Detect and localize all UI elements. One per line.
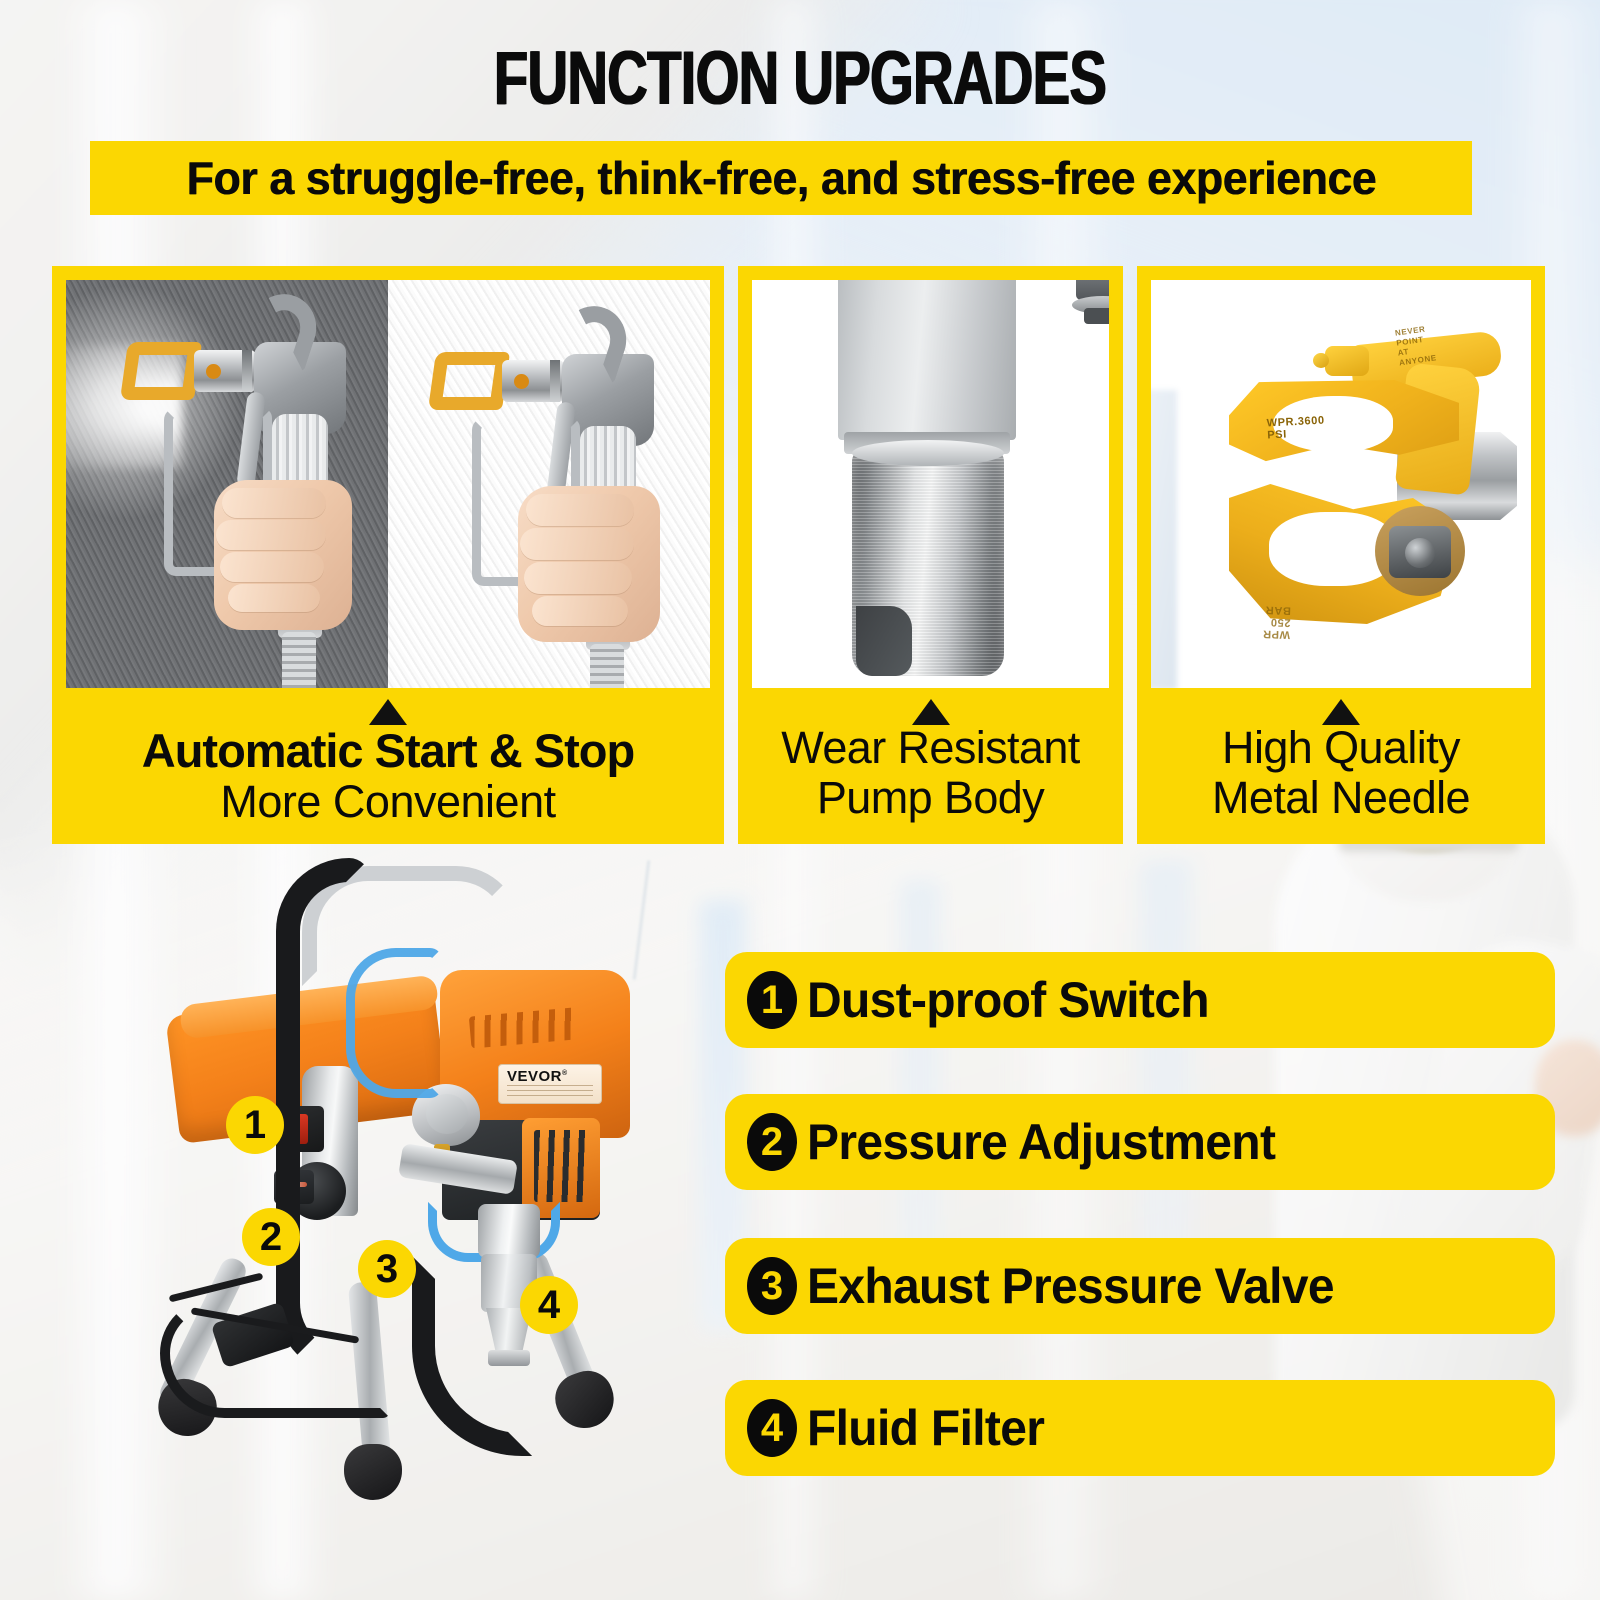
photo-edge-blur <box>1151 390 1177 688</box>
brand-label: VEVOR® <box>498 1064 602 1104</box>
feature-caption-line2: Metal Needle <box>1143 775 1539 821</box>
feature-caption-line1: Automatic Start & Stop <box>58 727 718 775</box>
list-item-label: Pressure Adjustment <box>807 1113 1275 1171</box>
frame-foot <box>548 1364 622 1436</box>
photo-spray-gun-white-wall <box>388 280 710 688</box>
subtitle-text: For a struggle-free, think-free, and str… <box>186 151 1376 205</box>
pump-cylinder-notch <box>856 606 912 676</box>
tip-seat <box>1375 506 1465 596</box>
list-item-label: Fluid Filter <box>807 1399 1044 1457</box>
exhaust-vent-slots <box>534 1130 588 1202</box>
feature-caption: Automatic Start & Stop More Convenient <box>52 727 724 825</box>
subtitle-banner: For a struggle-free, think-free, and str… <box>90 141 1472 215</box>
paint-hose-lower <box>412 1256 532 1456</box>
tip-guard-psi-marking: WPR.3600 PSI <box>1266 414 1325 441</box>
feature-caption-line2: Pump Body <box>744 775 1117 821</box>
feature-caption-line1: Wear Resistant <box>744 725 1117 771</box>
pump-housing <box>838 280 1016 440</box>
tip-guard-warning-marking: NEVER POINT AT ANYONE <box>1394 324 1437 369</box>
feature-list-item-exhaust-pressure-valve: 3 Exhaust Pressure Valve <box>725 1238 1555 1334</box>
machine-callout-2: 2 <box>242 1208 300 1266</box>
feature-panel-high-quality-metal-needle: WPR.3600 PSI WPR 250 BAR NEVER POINT AT … <box>1137 266 1545 844</box>
feature-caption-line1: High Quality <box>1143 725 1539 771</box>
infographic-canvas: FUNCTION UPGRADES For a struggle-free, t… <box>0 0 1600 1600</box>
pump-cylinder-rim <box>852 440 1004 466</box>
list-number-badge: 2 <box>747 1113 797 1171</box>
feature-photo-pump-body <box>752 280 1109 688</box>
feature-caption-line2: More Convenient <box>58 779 718 825</box>
metal-needle <box>1405 538 1435 568</box>
feature-panel-automatic-start-stop: Automatic Start & Stop More Convenient <box>52 266 724 844</box>
list-number-badge: 4 <box>747 1399 797 1457</box>
feature-panel-wear-resistant-pump-body: Wear Resistant Pump Body <box>738 266 1123 844</box>
list-number-badge: 3 <box>747 1257 797 1315</box>
photo-spray-gun-dark-wall <box>66 280 388 688</box>
tip-guard-bar-marking: WPR 250 BAR <box>1262 604 1291 641</box>
arrow-up-icon <box>369 699 407 725</box>
machine-callout-1: 1 <box>226 1096 284 1154</box>
machine-callout-4: 4 <box>520 1276 578 1334</box>
feature-list-item-dust-proof-switch: 1 Dust-proof Switch <box>725 952 1555 1048</box>
list-number-badge: 1 <box>747 971 797 1029</box>
list-item-label: Dust-proof Switch <box>807 971 1209 1029</box>
feature-caption: High Quality Metal Needle <box>1137 725 1545 821</box>
page-title: FUNCTION UPGRADES <box>208 40 1392 118</box>
feature-caption: Wear Resistant Pump Body <box>738 725 1123 821</box>
list-item-label: Exhaust Pressure Valve <box>807 1257 1334 1315</box>
feature-photo-tip-guard: WPR.3600 PSI WPR 250 BAR NEVER POINT AT … <box>1151 280 1531 688</box>
tip-guard-knob <box>1325 346 1369 376</box>
frame-foot <box>344 1444 402 1500</box>
pump-fitting <box>1072 280 1109 336</box>
feature-photo-spray-gun-pair <box>66 280 710 688</box>
product-photo-airless-paint-sprayer: VEVOR® 1 2 3 4 <box>150 852 710 1512</box>
feature-list-item-pressure-adjustment: 2 Pressure Adjustment <box>725 1094 1555 1190</box>
feature-list-item-fluid-filter: 4 Fluid Filter <box>725 1380 1555 1476</box>
machine-callout-3: 3 <box>358 1240 416 1298</box>
brand-trademark: ® <box>562 1070 568 1077</box>
pressure-gauge-face <box>426 1094 468 1134</box>
brand-name: VEVOR <box>507 1068 562 1085</box>
